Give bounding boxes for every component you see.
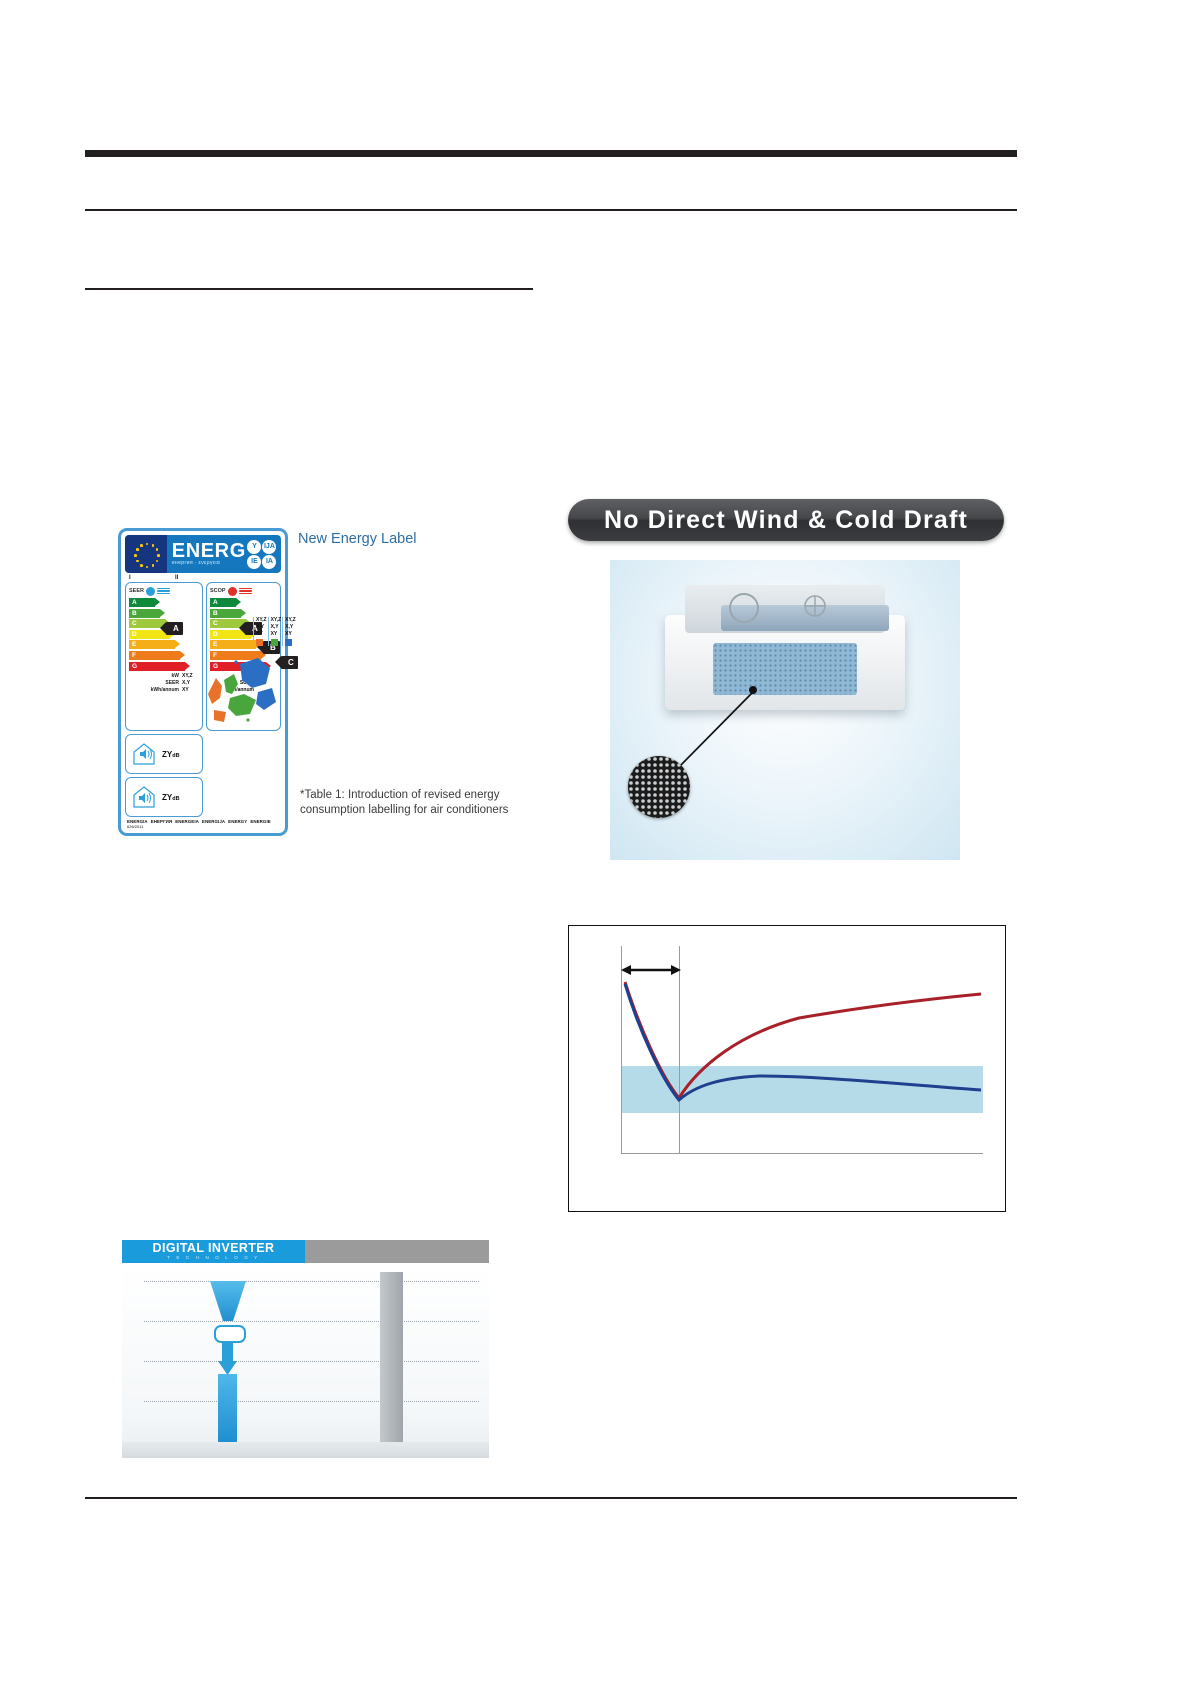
indoor-sound-icon [132,785,156,809]
class-bubble: IE [247,555,261,569]
down-arrow-icon [218,1343,237,1375]
energy-label-header: ENERG енергия · ενεργεια Y IJA IE IA [125,535,281,573]
season-value: XY [256,631,267,638]
energy-label-panels: SEER ABCDEFG A kWXY,Z SEERX,Y kWh/annumX… [125,582,281,731]
season-column-average: XY,Z X,Y XY [268,617,282,646]
micro-perforated-panel-icon [628,756,690,818]
season-value: XY [285,631,296,638]
grade-letter: E [213,641,217,648]
season-swatch-colder [285,639,292,646]
grade-letter: C [132,620,137,627]
no-direct-wind-banner-text: No Direct Wind & Cold Draft [604,506,968,535]
seer-value: XY,Z [182,673,199,680]
seer-value-unit: kW [172,673,180,680]
header-rule-thick [85,150,1017,157]
eu-energy-label: ENERG енергия · ενεργεια Y IJA IE IA I I… [118,528,288,836]
conventional-bar [380,1272,403,1442]
tab-digital-inverter-label: DIGITAL INVERTER [153,1242,275,1255]
scop-panel: SCOP ABCDEFG A B C kW SCOP kWh/annum XY,… [206,582,281,731]
heating-fan-icon [228,587,237,596]
digital-inverter-chart [122,1263,489,1458]
grade-g: G [129,662,185,671]
grade-a: A [129,598,155,607]
season-value: XY,Z [256,617,267,624]
energy-label-regulation: 626/2011 [125,824,281,829]
scop-metric-label: SCOP [210,588,226,594]
heating-wave-icon [239,588,252,594]
graph-curves [569,926,1005,1211]
grade-letter: B [132,610,137,617]
europe-climate-map-icon [200,654,278,728]
cassette-top-housing [685,585,885,633]
chart-gridline [144,1321,479,1322]
season-value: X,Y [256,624,267,631]
seer-value-unit: SEER [165,680,179,687]
season-swatch-average [271,639,278,646]
mesh-dot-pattern [628,756,690,818]
grade-b: B [210,609,241,618]
new-energy-label-title: New Energy Label [298,531,417,547]
cooling-fan-icon [146,587,155,596]
seer-title-row: SEER [129,586,199,596]
grade-letter: D [213,631,218,638]
outdoor-sound-value: ZYdB [162,750,180,759]
footer-rule [85,1497,1017,1499]
season-column-warmer: XY,Z X,Y XY [253,617,267,646]
ceiling-cassette-air-conditioner-icon [665,585,905,715]
seer-value-unit: kWh/annum [151,687,179,694]
grade-letter: A [213,599,218,606]
inverter-bar [218,1374,237,1442]
seer-panel: SEER ABCDEFG A kWXY,Z SEERX,Y kWh/annumX… [125,582,203,731]
chart-floor [122,1442,489,1458]
class-bubble: Y [247,540,261,554]
energy-wordmark-main: ENERG [172,542,246,560]
energy-wordmark-sub: енергия · ενεργεια [172,560,246,567]
grade-letter: A [132,599,137,606]
outdoor-sound-icon [132,742,156,766]
seer-value: XY [182,687,199,694]
season-value: XY,Z [271,617,282,624]
seer-grade-scale: ABCDEFG [129,598,199,671]
digital-inverter-graphic: DIGITAL INVERTER T E C H N O L O G Y [122,1240,489,1458]
eu-flag-icon [125,535,167,573]
grade-e: E [210,640,256,649]
chart-gridline [144,1281,479,1282]
seer-metric-label: SEER [129,588,144,594]
grade-letter: C [213,620,218,627]
cassette-plus-icon [803,594,827,618]
chart-gridline [144,1401,479,1402]
season-swatch-warmer [256,639,263,646]
header-rule-thin [85,209,1017,211]
energy-label-footnote: *Table 1: Introduction of revised energy… [300,788,515,818]
roman-numeral-i: I [129,575,175,581]
grade-letter: F [132,652,136,659]
tab-digital-inverter[interactable]: DIGITAL INVERTER T E C H N O L O G Y [122,1240,305,1263]
tab-digital-inverter-sublabel: T E C H N O L O G Y [167,1255,260,1261]
energy-wordmark: ENERG енергия · ενεργεια [167,535,246,573]
energy-label-footer-codes: ENERGIA ЕНЕРГИЯ ENERGEIA ENERGIJA ENERGY… [125,817,281,824]
sound-box-indoor: ZYdB [125,777,203,817]
grade-e: E [129,640,175,649]
grade-f: F [129,651,180,660]
section-rule-short [85,288,533,290]
seer-values: kWXY,Z SEERX,Y kWh/annumXY [129,673,199,694]
funnel-icon [210,1281,246,1321]
season-value: X,Y [271,624,282,631]
roman-numeral-ii: II [175,575,178,581]
grade-letter: B [213,610,218,617]
grade-b: B [129,609,160,618]
class-bubble-group: Y IJA IE IA [246,535,281,573]
pill-icon [214,1325,246,1343]
temperature-comfort-graph [568,925,1006,1212]
time-span-arrow-icon [621,965,681,975]
season-column-colder: XY,Z X,Y XY [282,617,296,646]
grade-letter: E [132,641,136,648]
roman-numeral-row: I II [125,573,281,582]
season-value: XY [271,631,282,638]
grade-letter: D [132,631,137,638]
chart-gridline [144,1361,479,1362]
no-direct-wind-banner: No Direct Wind & Cold Draft [568,499,1004,541]
season-columns: XY,Z X,Y XY XY,Z X,Y XY XY,Z X,Y XY [253,617,278,646]
cassette-perforated-grille [713,643,857,695]
grade-letter: G [132,663,137,670]
cassette-ring-icon [729,593,759,623]
class-bubble: IA [262,555,276,569]
class-bubble: IJA [262,540,276,554]
grille-dot-pattern [713,643,857,695]
season-value: XY,Z [285,617,296,624]
digital-inverter-tabs: DIGITAL INVERTER T E C H N O L O G Y [122,1240,489,1263]
seer-value: X,Y [182,680,199,687]
scop-title-row: SCOP [210,586,277,596]
scop-selected-grade-c: C [281,656,298,669]
cooling-wave-icon [157,588,170,594]
seer-selected-grade: A [166,622,183,635]
tab-conventional[interactable] [305,1240,489,1263]
season-value: X,Y [285,624,296,631]
indoor-sound-value: ZYdB [162,793,180,802]
grade-a: A [210,598,236,607]
sound-box-outdoor: ZYdB [125,734,203,774]
product-photo [610,560,960,860]
